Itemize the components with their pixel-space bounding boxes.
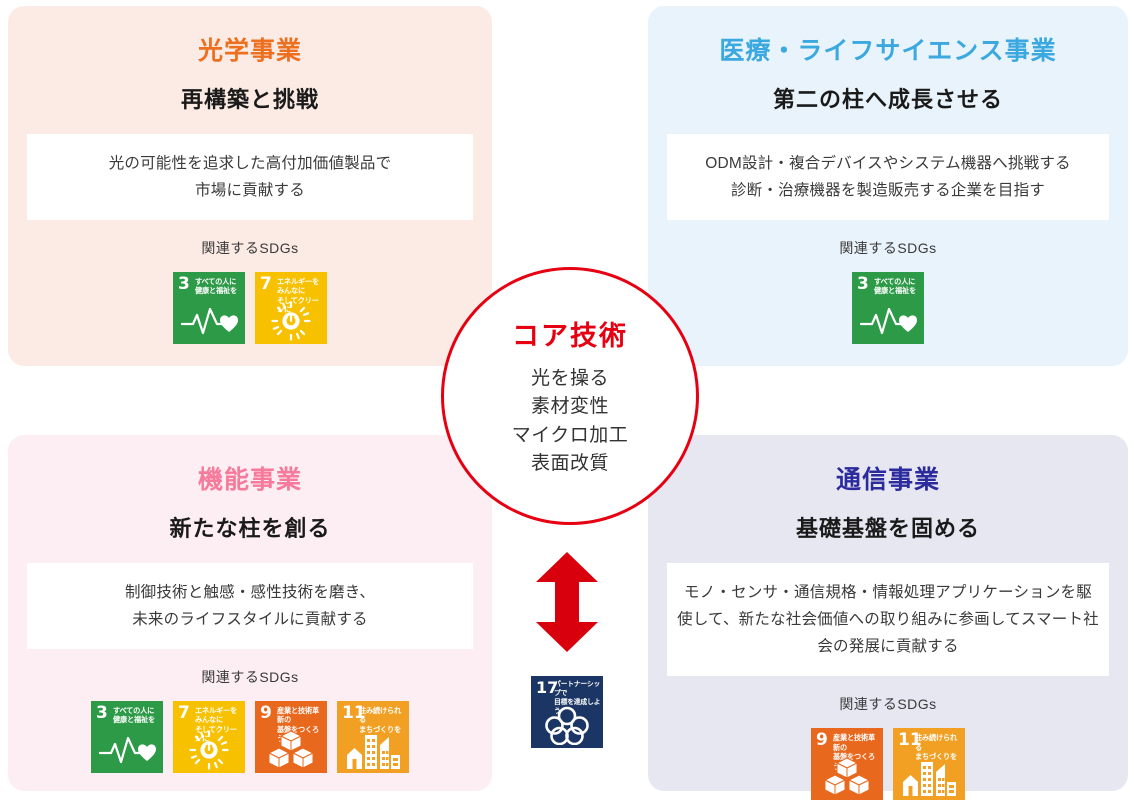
sdg-icon-3-number: 3 (857, 276, 869, 293)
sdg-icon-3-number: 3 (96, 705, 108, 722)
city-buildings-icon (337, 730, 409, 770)
panel-optics-sdg-label: 関連するSDGs (201, 238, 298, 258)
sdg-icon-3[interactable]: 3 すべての人に 健康と福祉を (852, 272, 924, 344)
panel-medical: 医療・ライフサイエンス事業 第二の柱へ成長させる ODM設計・複合デバイスやシス… (648, 6, 1128, 366)
panel-medical-title: 医療・ライフサイエンス事業 (719, 38, 1056, 66)
diagram-canvas: 光学事業 再構築と挑戦 光の可能性を追求した高付加価値製品で市場に貢献する 関連… (0, 0, 1134, 796)
panel-functional-title: 機能事業 (198, 467, 302, 495)
sdg-icon-3[interactable]: 3 すべての人に 健康と福祉を (173, 272, 245, 344)
panel-optics-subtitle: 再構築と挑戦 (181, 88, 319, 112)
cubes-icon (811, 757, 883, 797)
cubes-icon (255, 730, 327, 770)
sdg-icon-9[interactable]: 9 産業と技術革新の 基盤をつくろう (255, 701, 327, 773)
sdg-icon-9[interactable]: 9 産業と技術革新の 基盤をつくろう (811, 728, 883, 800)
rings-icon (531, 705, 603, 745)
panel-communication-sdg-label: 関連するSDGs (839, 694, 936, 714)
heartbeat-heart-icon (91, 730, 163, 770)
panel-functional-sdg-row: 3 すべての人に 健康と福祉を 7 エネルギーをみんなに そしてクリーンに (91, 701, 409, 773)
sdg-icon-7[interactable]: 7 エネルギーをみんなに そしてクリーンに (255, 272, 327, 344)
panel-communication-title: 通信事業 (836, 467, 940, 495)
panel-functional-sdg-label: 関連するSDGs (201, 667, 298, 687)
panel-communication-sdg-row: 9 産業と技術革新の 基盤をつくろう (811, 728, 965, 800)
panel-communication: 通信事業 基礎基盤を固める モノ・センサ・通信規格・情報処理アプリケーションを駆… (648, 435, 1128, 791)
sdg-icon-3-text: すべての人に 健康と福祉を (874, 277, 922, 296)
panel-functional-description: 制御技術と触感・感性技術を磨き、未来のライフスタイルに貢献する (27, 563, 473, 649)
sdg-icon-9-number: 9 (260, 705, 272, 722)
sdg-icon-3-text: すべての人に 健康と福祉を (195, 277, 243, 296)
panel-optics: 光学事業 再構築と挑戦 光の可能性を追求した高付加価値製品で市場に貢献する 関連… (8, 6, 492, 366)
sdg-icon-7[interactable]: 7 エネルギーをみんなに そしてクリーンに (173, 701, 245, 773)
sdg-icon-17[interactable]: 17 パートナーシップで 目標を達成しよう (531, 676, 603, 748)
city-buildings-icon (893, 757, 965, 797)
panel-optics-description: 光の可能性を追求した高付加価値製品で市場に貢献する (27, 134, 473, 220)
panel-medical-subtitle: 第二の柱へ成長させる (773, 88, 1003, 112)
panel-functional-subtitle: 新たな柱を創る (169, 517, 330, 541)
panel-medical-sdg-label: 関連するSDGs (839, 238, 936, 258)
panel-communication-description: モノ・センサ・通信規格・情報処理アプリケーションを駆使して、新たな社会価値への取… (667, 563, 1109, 676)
core-technology-item: マイクロ加工 (512, 422, 629, 450)
sdg-icon-9-number: 9 (816, 732, 828, 749)
sun-power-icon (173, 730, 245, 770)
panel-optics-title: 光学事業 (198, 38, 302, 66)
heartbeat-heart-icon (173, 301, 245, 341)
heartbeat-heart-icon (852, 301, 924, 341)
panel-functional: 機能事業 新たな柱を創る 制御技術と触感・感性技術を磨き、未来のライフスタイルに… (8, 435, 492, 791)
core-technology-title: コア技術 (512, 314, 628, 353)
sdg-icon-7-number: 7 (260, 276, 272, 293)
sdg-icon-7-number: 7 (178, 705, 190, 722)
sdg-icon-3-number: 3 (178, 276, 190, 293)
core-technology-item: 光を操る (531, 365, 609, 393)
panel-medical-sdg-row: 3 すべての人に 健康と福祉を (852, 272, 924, 344)
double-arrow-vertical-icon (536, 552, 598, 652)
sdg-center-wrap: 17 パートナーシップで 目標を達成しよう (531, 676, 603, 748)
sdg-icon-11[interactable]: 11 住み続けられる まちづくりを (893, 728, 965, 800)
sdg-icon-3-text: すべての人に 健康と福祉を (113, 706, 161, 725)
core-technology-item: 素材変性 (531, 393, 609, 421)
sdg-icon-11[interactable]: 11 住み続けられる まちづくりを (337, 701, 409, 773)
panel-optics-sdg-row: 3 すべての人に 健康と福祉を 7 エネルギーをみんなに そしてクリーンに (173, 272, 327, 344)
panel-communication-subtitle: 基礎基盤を固める (796, 517, 980, 541)
sun-power-icon (255, 301, 327, 341)
core-technology-item: 表面改質 (531, 450, 609, 478)
sdg-icon-3[interactable]: 3 すべての人に 健康と福祉を (91, 701, 163, 773)
panel-medical-description: ODM設計・複合デバイスやシステム機器へ挑戦する診断・治療機器を製造販売する企業… (667, 134, 1109, 220)
